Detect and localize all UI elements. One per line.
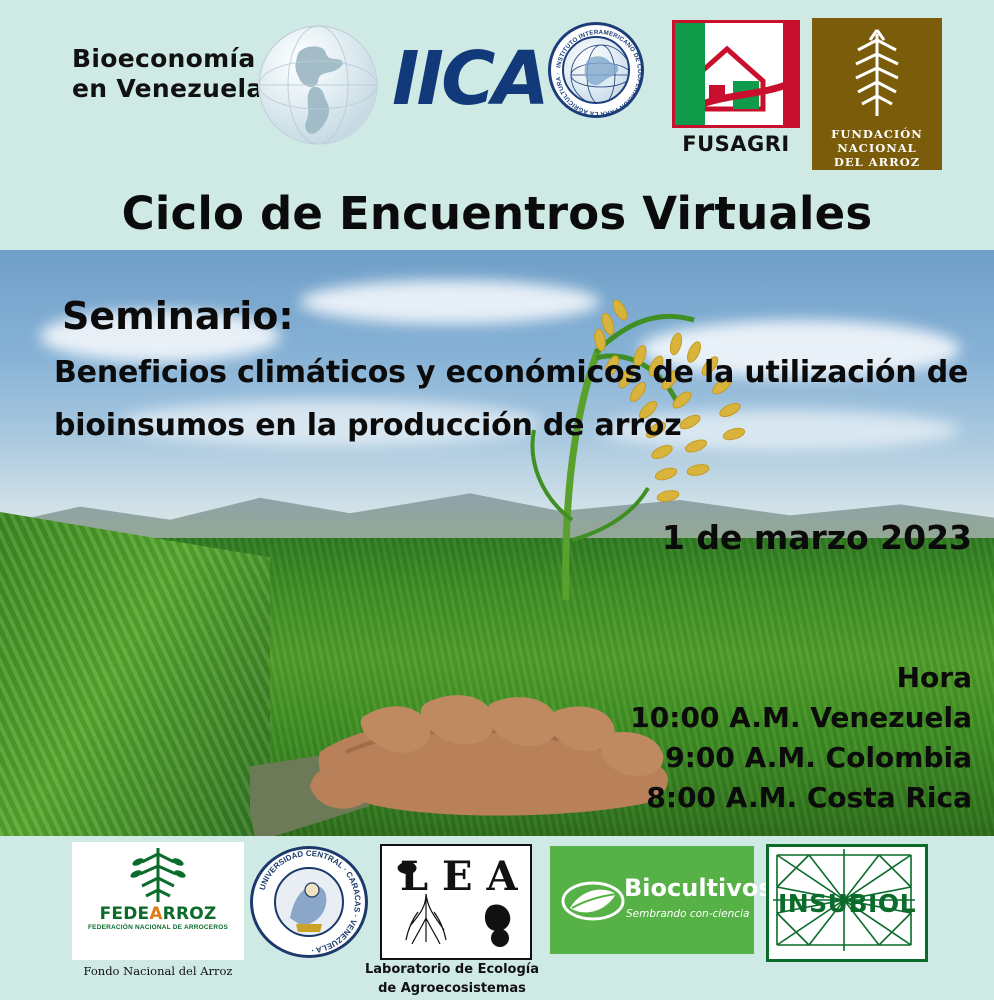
hero-photo: Seminario: Beneficios climáticos y econó… (0, 250, 994, 836)
lea-caption-line-1: Laboratorio de Ecología (352, 960, 552, 979)
arroz-line-3: DEL ARROZ (812, 155, 942, 169)
biocultivos-name-text: Biocultivos (624, 874, 773, 902)
fedearroz-wordmark: FEDEARROZ (72, 904, 244, 924)
lea-logo: L E A (380, 844, 532, 960)
page-title: Ciclo de Encuentros Virtuales (0, 178, 994, 250)
bioeconomia-line-2: en Venezuela (72, 74, 264, 104)
lea-caption: Laboratorio de Ecología de Agroecosistem… (352, 960, 552, 998)
iica-oea-seal-icon: INSTITUTO INTERAMERICANO DE COOPERACIÓN … (548, 22, 644, 118)
biocultivos-logo: Biocultivos® Sembrando con-ciencia (550, 846, 754, 954)
lea-wordmark-text: L E A (400, 853, 518, 900)
fusagri-green-band (675, 23, 705, 125)
seminar-label: Seminario: (62, 294, 294, 338)
seminar-title-line-1: Beneficios climáticos y económicos de la… (54, 355, 968, 390)
fedearroz-word-a: FEDE (100, 904, 150, 924)
fedearroz-subtitle: FEDERACIÓN NACIONAL DE ARROCEROS (72, 924, 244, 931)
lea-roots-icon: L E A (382, 846, 526, 954)
poster: Bioeconomía en Venezuela IICA (0, 0, 994, 1000)
sponsor-logos: FEDEARROZ FEDERACIÓN NACIONAL DE ARROCER… (0, 836, 994, 1000)
schedule-time-colombia: 9:00 A.M. Colombia (630, 738, 972, 778)
page-title-text: Ciclo de Encuentros Virtuales (122, 187, 873, 240)
biocultivos-slogan: Sembrando con-ciencia (626, 908, 749, 920)
fusagri-logo: FUSAGRI (672, 20, 800, 156)
oea-seal-globe (562, 36, 630, 104)
fedearroz-plant-icon (72, 842, 244, 906)
fedearroz-caption: Fondo Nacional del Arroz (64, 964, 252, 978)
bioeconomia-line-1: Bioeconomía (72, 44, 264, 74)
schedule-time-costa-rica: 8:00 A.M. Costa Rica (630, 778, 972, 818)
rice-field-foreground (0, 512, 270, 836)
seminar-title-line-2: bioinsumos en la producción de arroz (54, 408, 681, 443)
fusagri-red-band (783, 23, 797, 125)
arroz-line-2: NACIONAL (812, 141, 942, 155)
bioeconomia-title: Bioeconomía en Venezuela (72, 44, 264, 104)
schedule-block: Hora 10:00 A.M. Venezuela 9:00 A.M. Colo… (630, 658, 972, 818)
ucv-logo: UNIVERSIDAD CENTRAL · CARACAS · VENEZUEL… (250, 846, 368, 958)
ucv-crest-icon: UNIVERSIDAD CENTRAL · CARACAS · VENEZUEL… (250, 846, 368, 958)
wheat-icon (812, 24, 942, 127)
insubiol-wordmark: INSUBIOL (769, 889, 925, 918)
biocultivos-wordmark: Biocultivos® (624, 874, 783, 902)
schedule-time-venezuela: 10:00 A.M. Venezuela (630, 698, 972, 738)
globe-icon (258, 25, 378, 145)
arroz-line-1: FUNDACIÓN (812, 127, 942, 141)
poster-header: Bioeconomía en Venezuela IICA (0, 0, 994, 178)
fedearroz-word-c: RROZ (163, 904, 217, 924)
fusagri-mark (672, 20, 800, 128)
insubiol-logo: INSUBIOL (766, 844, 928, 962)
schedule-heading: Hora (630, 658, 972, 698)
iica-wordmark: IICA (392, 36, 547, 122)
lea-caption-line-2: de Agroecosistemas (352, 979, 552, 998)
fusagri-label: FUSAGRI (672, 132, 800, 156)
fedearroz-logo: FEDEARROZ FEDERACIÓN NACIONAL DE ARROCER… (72, 842, 244, 960)
event-date: 1 de marzo 2023 (662, 518, 972, 557)
fedearroz-word-b: A (149, 904, 162, 924)
biocultivos-leaf-icon (560, 872, 626, 930)
fundacion-nacional-del-arroz-logo: FUNDACIÓN NACIONAL DEL ARROZ (812, 18, 942, 170)
